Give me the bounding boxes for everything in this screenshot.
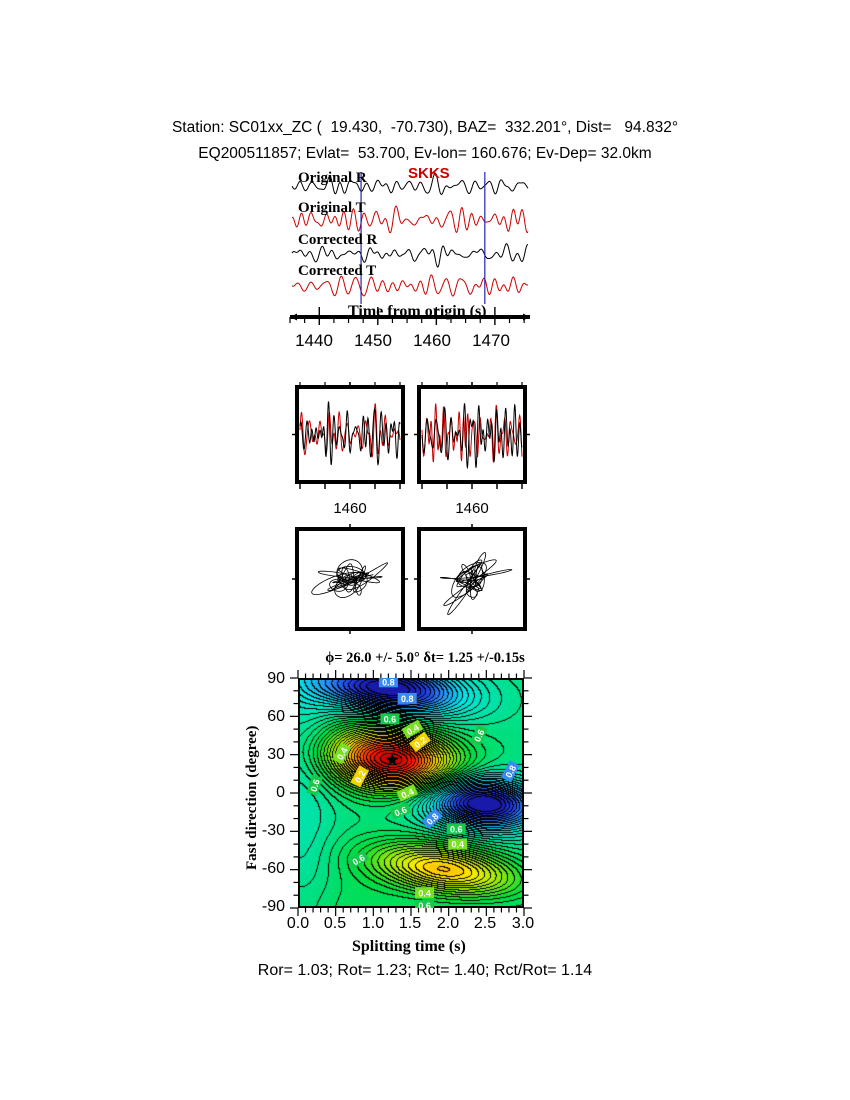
time-tick-1460: 1460 [404,331,460,351]
particle-motion-panel-left [292,524,408,634]
trace-label-corrected-t: Corrected T [298,263,376,280]
particle-motion-panel-right [414,524,530,634]
trace-label-original-t: Original T [298,200,366,217]
compare-right-xtick: 1460 [444,500,500,517]
event-header-line: EQ200511857; Evlat= 53.700, Ev-lon= 160.… [0,145,850,163]
compare-left-xtick: 1460 [322,500,378,517]
contour-xtick-0.0: 0.0 [278,915,318,933]
contour-xtick-0.5: 0.5 [315,915,355,933]
trace-label-corrected-r: Corrected R [298,232,377,249]
contour-xtick-2.5: 2.5 [465,915,505,933]
trace-label-original-r: Original R [298,170,367,187]
station-header-line: Station: SC01xx_ZC ( 19.430, -70.730), B… [0,119,850,137]
contour-axis-ticks [288,668,538,924]
contour-xtick-3.0: 3.0 [503,915,543,933]
contour-ytick-m90: -90 [245,898,285,916]
time-tick-1440: 1440 [286,331,342,351]
compare-panel-right [414,382,530,502]
contour-xtick-2.0: 2.0 [428,915,468,933]
contour-xtick-1.0: 1.0 [353,915,393,933]
quality-ratios-footer: Ror= 1.03; Rot= 1.23; Rct= 1.40; Rct/Rot… [0,962,850,980]
contour-ytick-m60: -60 [245,860,285,878]
contour-xlabel: Splitting time (s) [352,938,466,956]
time-tick-1470: 1470 [463,331,519,351]
time-axis-title: Time from origin (s) [348,303,487,321]
contour-ytick-60: 60 [245,708,285,726]
seismic-splitting-figure: Station: SC01xx_ZC ( 19.430, -70.730), B… [0,0,850,1100]
contour-ytick-90: 90 [245,670,285,688]
skks-phase-label: SKKS [408,165,450,182]
time-tick-1450: 1450 [345,331,401,351]
contour-xtick-1.5: 1.5 [390,915,430,933]
contour-ytick-0: 0 [245,784,285,802]
contour-ytick-30: 30 [245,746,285,764]
contour-plot-title: ϕ= 26.0 +/- 5.0° δt= 1.25 +/-0.15s [0,650,850,667]
compare-panel-left [292,382,408,502]
contour-ytick-m30: -30 [245,822,285,840]
